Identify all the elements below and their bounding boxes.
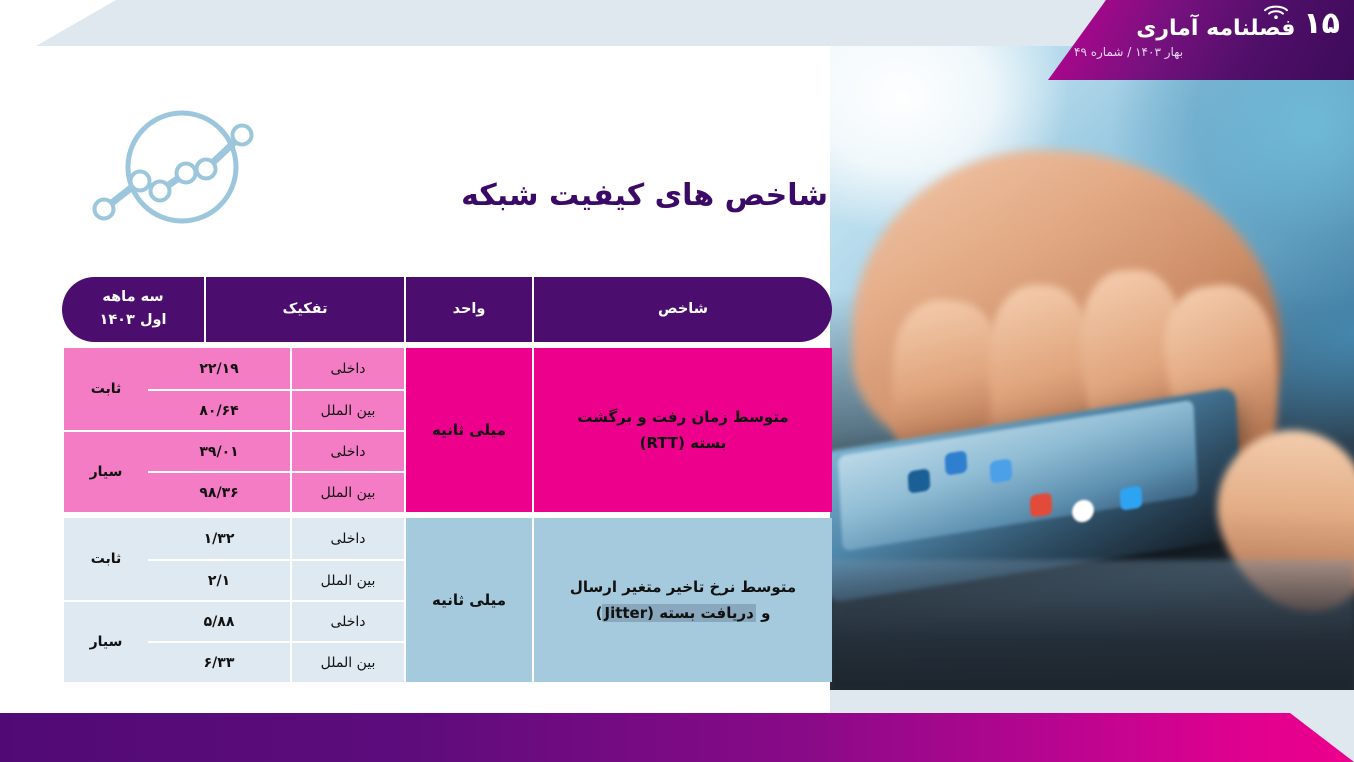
group-indicator-rtt-text: متوسط زمان رفت و برگشت بسته (RTT) — [577, 404, 788, 457]
app-icon-6 — [908, 468, 931, 494]
network-quality-table: شاخص واحد تفکیک سه ماهه اول ۱۴۰۳ متوسط ز… — [62, 277, 832, 682]
group-unit-rtt: میلی ثانیه — [404, 348, 532, 512]
app-icon-1 — [945, 450, 968, 476]
cell-split: داخلی — [290, 432, 404, 471]
subgroup-label-fixed: ثابت — [62, 348, 148, 430]
background-photo — [830, 0, 1354, 692]
cell-value: ۹۸/۳۶ — [148, 473, 290, 512]
subgroup-label-mobile: سیار — [62, 430, 148, 512]
group-rows-rtt: داخلی ۲۲/۱۹ بین الملل ۸۰/۶۴ ثابت — [62, 348, 404, 512]
bottom-pale-band — [830, 690, 1354, 715]
cell-value: ۲۲/۱۹ — [148, 348, 290, 389]
subgroup-label-fixed: ثابت — [62, 518, 148, 600]
jitter-line-2-plain: و — [756, 604, 771, 622]
table-row: داخلی ۱/۳۲ — [148, 518, 404, 559]
cell-split: داخلی — [290, 518, 404, 559]
table-body: متوسط زمان رفت و برگشت بسته (RTT) میلی ث… — [62, 348, 832, 682]
cell-value: ۶/۳۳ — [148, 643, 290, 682]
group-rows-jitter: داخلی ۱/۳۲ بین الملل ۲/۱ ثابت — [62, 518, 404, 682]
jitter-line-2-selected-text: دریافت بسته (Jitter — [602, 604, 755, 622]
line-chart-circle-icon — [82, 105, 282, 230]
group-unit-jitter: میلی ثانیه — [404, 518, 532, 682]
cell-split: داخلی — [290, 602, 404, 641]
jitter-line-1: متوسط نرخ تاخیر متغیر ارسال — [570, 578, 796, 596]
cell-split: بین الملل — [290, 561, 404, 600]
table-row: داخلی ۵/۸۸ — [148, 600, 404, 641]
column-header-quarter-line1: سه ماهه — [102, 287, 163, 309]
group-indicator-jitter: متوسط نرخ تاخیر متغیر ارسال و دریافت بست… — [532, 518, 832, 682]
rtt-line-2: بسته (RTT) — [640, 434, 727, 452]
page-title: شاخص های کیفیت شبکه — [461, 178, 828, 213]
subgroup-jitter-fixed: داخلی ۱/۳۲ بین الملل ۲/۱ ثابت — [62, 518, 404, 600]
subgroup-rtt-fixed: داخلی ۲۲/۱۹ بین الملل ۸۰/۶۴ ثابت — [62, 348, 404, 430]
subgroup-rtt-mobile-rows: داخلی ۳۹/۰۱ بین الملل ۹۸/۳۶ — [148, 430, 404, 512]
subgroup-jitter-fixed-rows: داخلی ۱/۳۲ بین الملل ۲/۱ — [148, 518, 404, 600]
page-number: ۱۵ — [1303, 9, 1340, 40]
group-indicator-jitter-text: متوسط نرخ تاخیر متغیر ارسال و دریافت بست… — [570, 574, 796, 627]
cell-split: بین الملل — [290, 391, 404, 430]
cell-value: ۲/۱ — [148, 561, 290, 600]
app-icon-3 — [1030, 492, 1053, 518]
subgroup-jitter-mobile: داخلی ۵/۸۸ بین الملل ۶/۳۳ سیار — [62, 600, 404, 682]
cell-value: ۸۰/۶۴ — [148, 391, 290, 430]
page-root: ۱۵ فصلنامه آماری بهار ۱۴۰۳ / شماره ۴۹ — [0, 0, 1354, 762]
app-icon-5 — [1120, 485, 1143, 511]
subgroup-rtt-mobile: داخلی ۳۹/۰۱ بین الملل ۹۸/۳۶ سیار — [62, 430, 404, 512]
brand-title: فصلنامه آماری — [1136, 16, 1295, 41]
table-row: بین الملل ۲/۱ — [148, 559, 404, 600]
cell-value: ۳۹/۰۱ — [148, 432, 290, 471]
subgroup-label-mobile: سیار — [62, 600, 148, 682]
top-decor-band-curve — [36, 0, 146, 46]
column-header-indicator: شاخص — [532, 277, 832, 342]
table-surface-shadow — [830, 560, 1354, 692]
issue-line: بهار ۱۴۰۳ / شماره ۴۹ — [1040, 45, 1340, 59]
column-header-quarter: سه ماهه اول ۱۴۰۳ — [62, 277, 204, 342]
table-row: بین الملل ۹۸/۳۶ — [148, 471, 404, 512]
subgroup-rtt-fixed-rows: داخلی ۲۲/۱۹ بین الملل ۸۰/۶۴ — [148, 348, 404, 430]
group-indicator-rtt: متوسط زمان رفت و برگشت بسته (RTT) — [532, 348, 832, 512]
table-group-rtt: متوسط زمان رفت و برگشت بسته (RTT) میلی ث… — [62, 348, 832, 512]
rtt-line-1: متوسط زمان رفت و برگشت — [577, 408, 788, 426]
footer-bar — [0, 713, 1354, 762]
cell-value: ۱/۳۲ — [148, 518, 290, 559]
table-row: داخلی ۳۹/۰۱ — [148, 430, 404, 471]
table-header-row: شاخص واحد تفکیک سه ماهه اول ۱۴۰۳ — [62, 277, 832, 342]
table-group-jitter: متوسط نرخ تاخیر متغیر ارسال و دریافت بست… — [62, 518, 832, 682]
cell-value: ۵/۸۸ — [148, 602, 290, 641]
subgroup-jitter-mobile-rows: داخلی ۵/۸۸ بین الملل ۶/۳۳ — [148, 600, 404, 682]
table-row: بین الملل ۶/۳۳ — [148, 641, 404, 682]
app-icon-2 — [990, 458, 1013, 484]
column-header-quarter-line2: اول ۱۴۰۳ — [99, 310, 166, 332]
table-row: بین الملل ۸۰/۶۴ — [148, 389, 404, 430]
cell-split: بین الملل — [290, 643, 404, 682]
table-row: داخلی ۲۲/۱۹ — [148, 348, 404, 389]
cell-split: بین الملل — [290, 473, 404, 512]
column-header-split: تفکیک — [204, 277, 404, 342]
wifi-icon — [1263, 5, 1289, 19]
column-header-unit: واحد — [404, 277, 532, 342]
brand-wrap: فصلنامه آماری — [1136, 6, 1295, 40]
cell-split: داخلی — [290, 348, 404, 389]
